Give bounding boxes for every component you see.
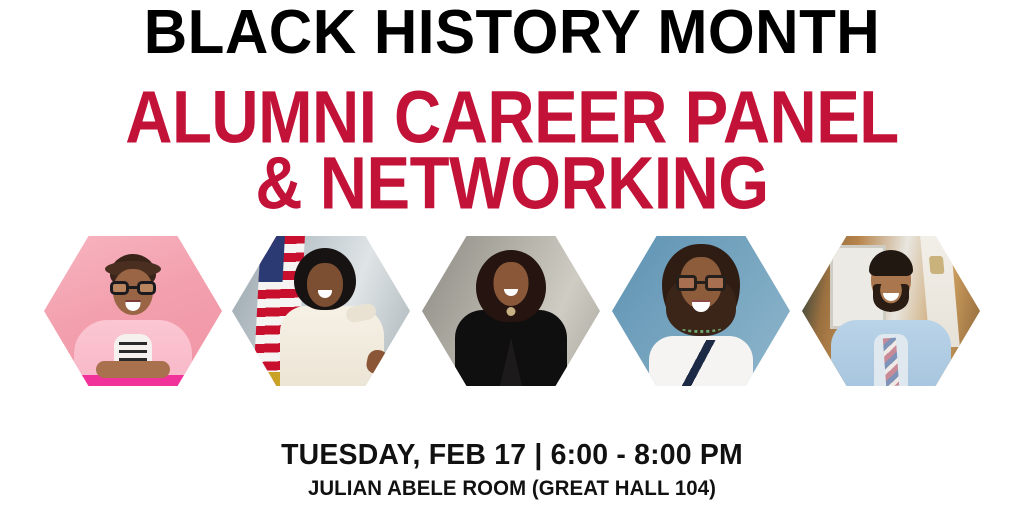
portrait-2-face — [307, 263, 343, 307]
title-line-2: & NETWORKING — [5, 146, 1019, 220]
portrait-2-hand — [365, 348, 390, 375]
panelist-portrait-5 — [802, 236, 980, 386]
portrait-4-beaded-necklace — [680, 323, 722, 333]
portrait-1-glasses-icon — [110, 281, 156, 295]
eyebrow-heading: BLACK HISTORY MONTH — [15, 2, 1008, 64]
panelist-portrait-2 — [232, 236, 410, 386]
panelist-portrait-row — [0, 236, 1024, 386]
panelist-portrait-3 — [422, 236, 600, 386]
portrait-3-necklace — [507, 307, 516, 316]
portrait-4-navy-stripe — [655, 340, 747, 386]
panelist-portrait-4 — [612, 236, 790, 386]
panelist-portrait-1 — [44, 236, 222, 386]
event-date-time: TUESDAY, FEB 17 | 6:00 - 8:00 PM — [10, 440, 1014, 470]
portrait-1-photo — [44, 236, 222, 386]
portrait-2-photo — [232, 236, 410, 386]
portrait-4-glasses-icon — [676, 275, 726, 291]
portrait-4-photo — [612, 236, 790, 386]
portrait-1-arms — [96, 361, 170, 378]
event-location: JULIAN ABELE ROOM (GREAT HALL 104) — [15, 478, 1008, 500]
portrait-5-photo — [802, 236, 980, 386]
portrait-3-face — [494, 262, 529, 306]
event-flyer: { "flyer": { "background_color": "#FFFFF… — [0, 0, 1024, 512]
portrait-3-photo — [422, 236, 600, 386]
